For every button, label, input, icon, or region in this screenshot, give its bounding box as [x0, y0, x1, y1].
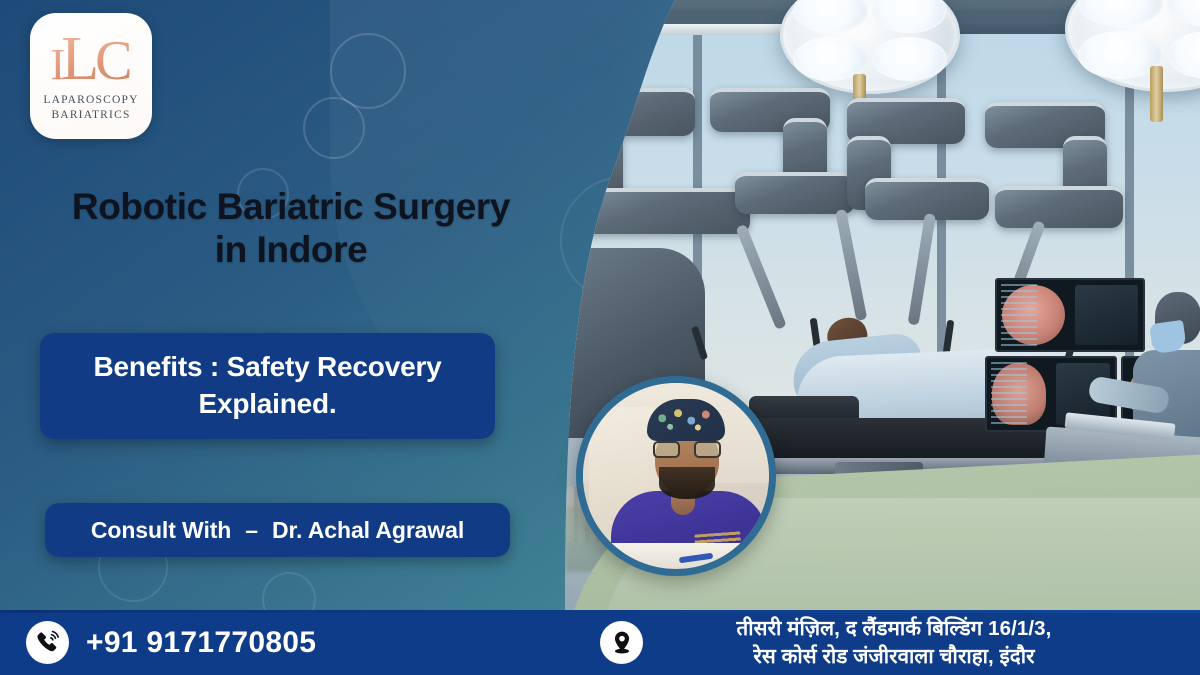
glasses-icon: [653, 441, 721, 458]
headline-line-2: in Indore: [16, 229, 566, 272]
logo-letter-l: L: [61, 25, 98, 93]
headline-line-1: Robotic Bariatric Surgery: [16, 186, 566, 229]
robot-arm-segment: [995, 186, 1123, 228]
benefits-line-1: Benefits : Safety Recovery: [93, 349, 441, 386]
robot-arm-segment: [575, 188, 750, 234]
robot-arm-segment: [575, 88, 695, 136]
clinic-address: तीसरी मंज़िल, द लैंडमार्क बिल्डिंग 16/1/…: [659, 615, 1129, 670]
phone-number[interactable]: +91 9171770805: [86, 626, 316, 660]
logo-letter-c: C: [95, 30, 131, 92]
logo-subtitle: LAPAROSCOPY BARIATRICS: [43, 93, 138, 124]
logo-subtitle-line1: LAPAROSCOPY: [43, 93, 138, 109]
phone-contact[interactable]: +91 9171770805: [0, 621, 316, 664]
promo-banner: ILC LAPAROSCOPY BARIATRICS Robotic Baria…: [0, 0, 1200, 675]
benefits-callout[interactable]: Benefits : Safety Recovery Explained.: [40, 333, 495, 439]
contact-footer: +91 9171770805 तीसरी मंज़िल, द लैंडमार्क…: [0, 610, 1200, 675]
brand-logo[interactable]: ILC LAPAROSCOPY BARIATRICS: [30, 13, 152, 139]
location-pin-icon[interactable]: [600, 621, 643, 664]
consult-callout[interactable]: Consult With – Dr. Achal Agrawal: [45, 503, 510, 557]
address-line-1: तीसरी मंज़िल, द लैंडमार्क बिल्डिंग 16/1/…: [659, 615, 1129, 642]
doctor-name: Dr. Achal Agrawal: [272, 517, 464, 544]
address-contact[interactable]: तीसरी मंज़िल, द लैंडमार्क बिल्डिंग 16/1/…: [600, 615, 1129, 670]
consult-dash: –: [231, 517, 272, 544]
logo-monogram: ILC: [49, 30, 134, 89]
light-handle: [1150, 66, 1163, 122]
robot-arm-segment: [735, 172, 855, 214]
footer-divider: [0, 610, 1200, 613]
logo-subtitle-line2: BARIATRICS: [43, 108, 138, 124]
light-mount: [611, 18, 633, 48]
light-arm: [623, 24, 803, 35]
medical-display-monitor: [995, 278, 1145, 352]
address-line-2: रेस कोर्स रोड जंजीरवाला चौराहा, इंदौर: [659, 643, 1129, 670]
phone-call-icon[interactable]: [26, 621, 69, 664]
doctor-portrait-avatar: [576, 376, 776, 576]
benefits-line-2: Explained.: [93, 386, 441, 423]
consult-prefix: Consult With: [91, 517, 231, 544]
decorative-circle-icon: [303, 97, 365, 159]
page-title: Robotic Bariatric Surgery in Indore: [16, 186, 566, 272]
